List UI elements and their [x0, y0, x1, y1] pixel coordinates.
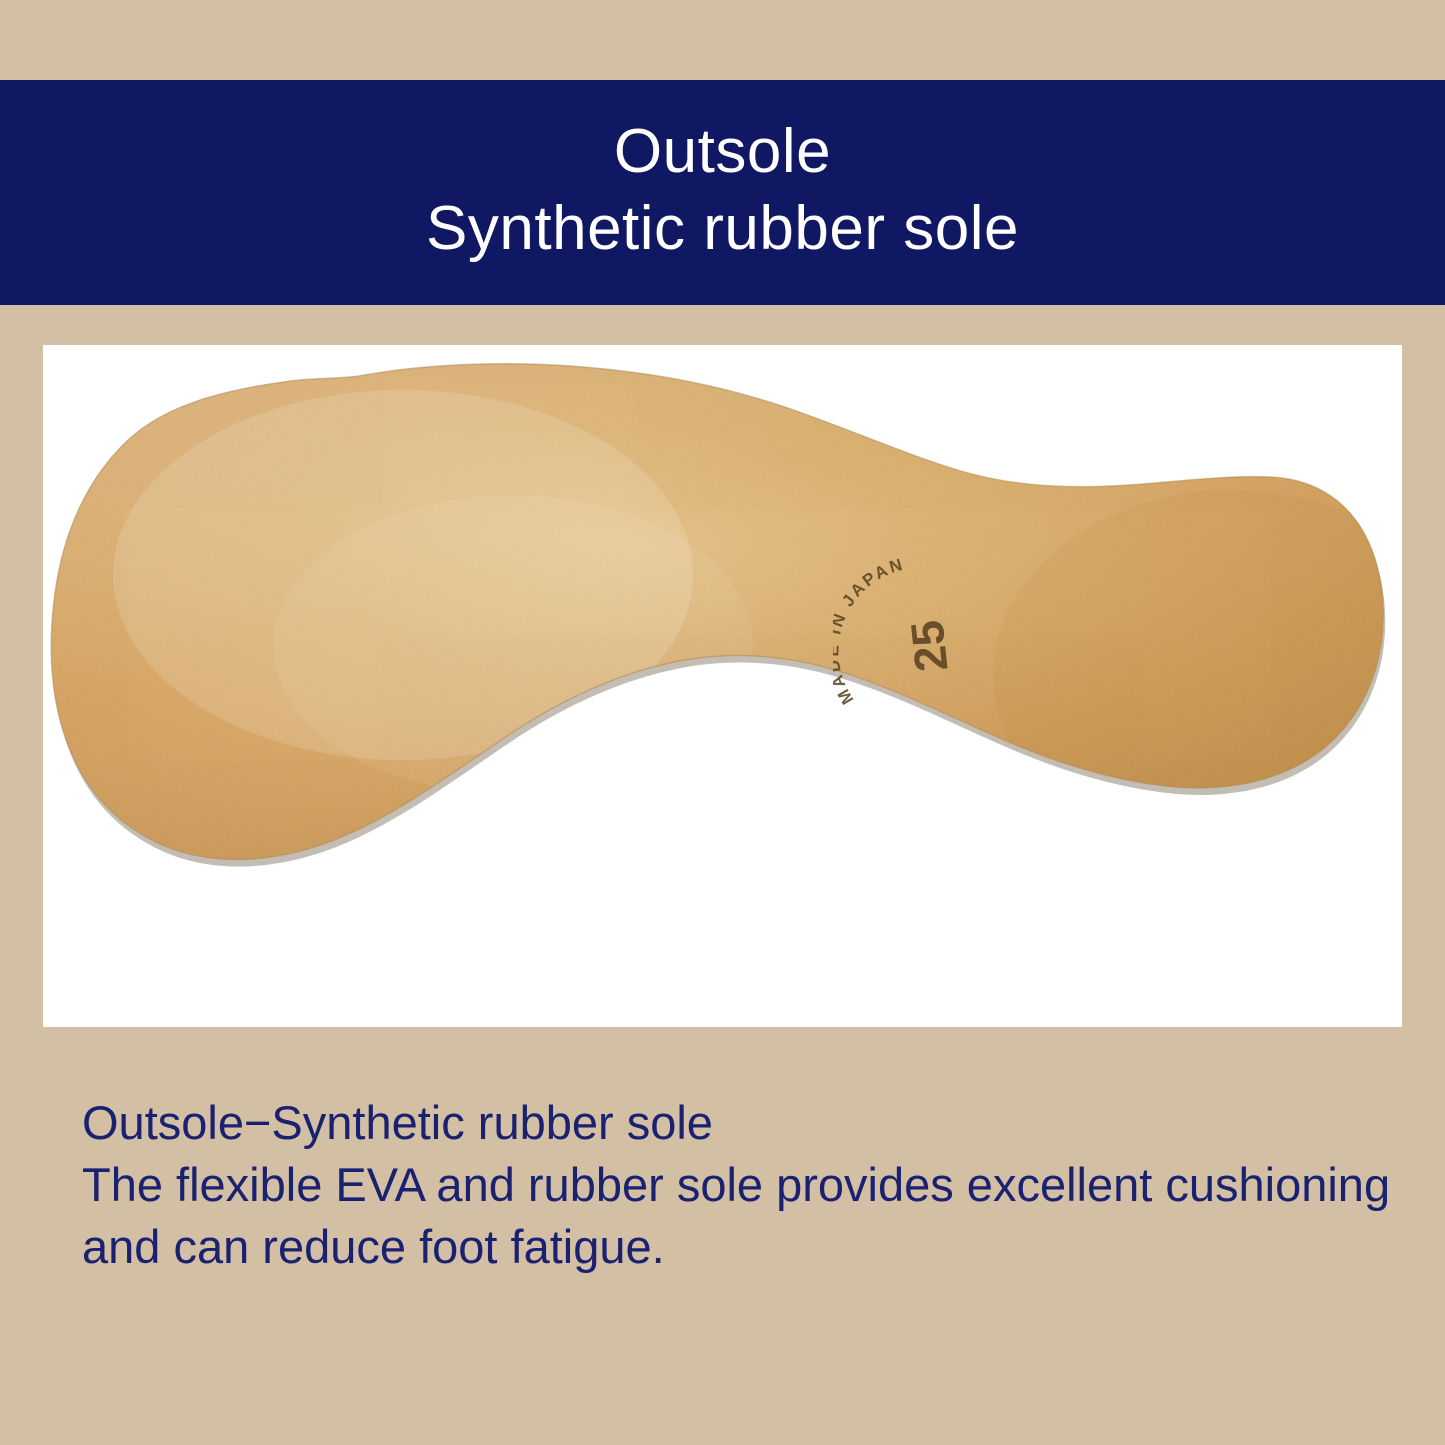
caption-line-1: Outsole−Synthetic rubber sole — [82, 1092, 1412, 1154]
header-title-line-2: Synthetic rubber sole — [426, 192, 1019, 265]
caption-block: Outsole−Synthetic rubber sole The flexib… — [82, 1092, 1412, 1278]
infographic-page: Outsole Synthetic rubber sole — [0, 0, 1445, 1445]
header-title-line-1: Outsole — [614, 120, 831, 183]
outsole-illustration — [43, 345, 1402, 1027]
outsole-photo: MADE IN JAPAN 25 — [43, 345, 1402, 1027]
header-banner: Outsole Synthetic rubber sole — [0, 80, 1445, 305]
caption-line-2: The flexible EVA and rubber sole provide… — [82, 1154, 1412, 1278]
product-photo-panel: MADE IN JAPAN 25 — [43, 345, 1402, 1027]
sole-body — [43, 345, 1402, 1027]
